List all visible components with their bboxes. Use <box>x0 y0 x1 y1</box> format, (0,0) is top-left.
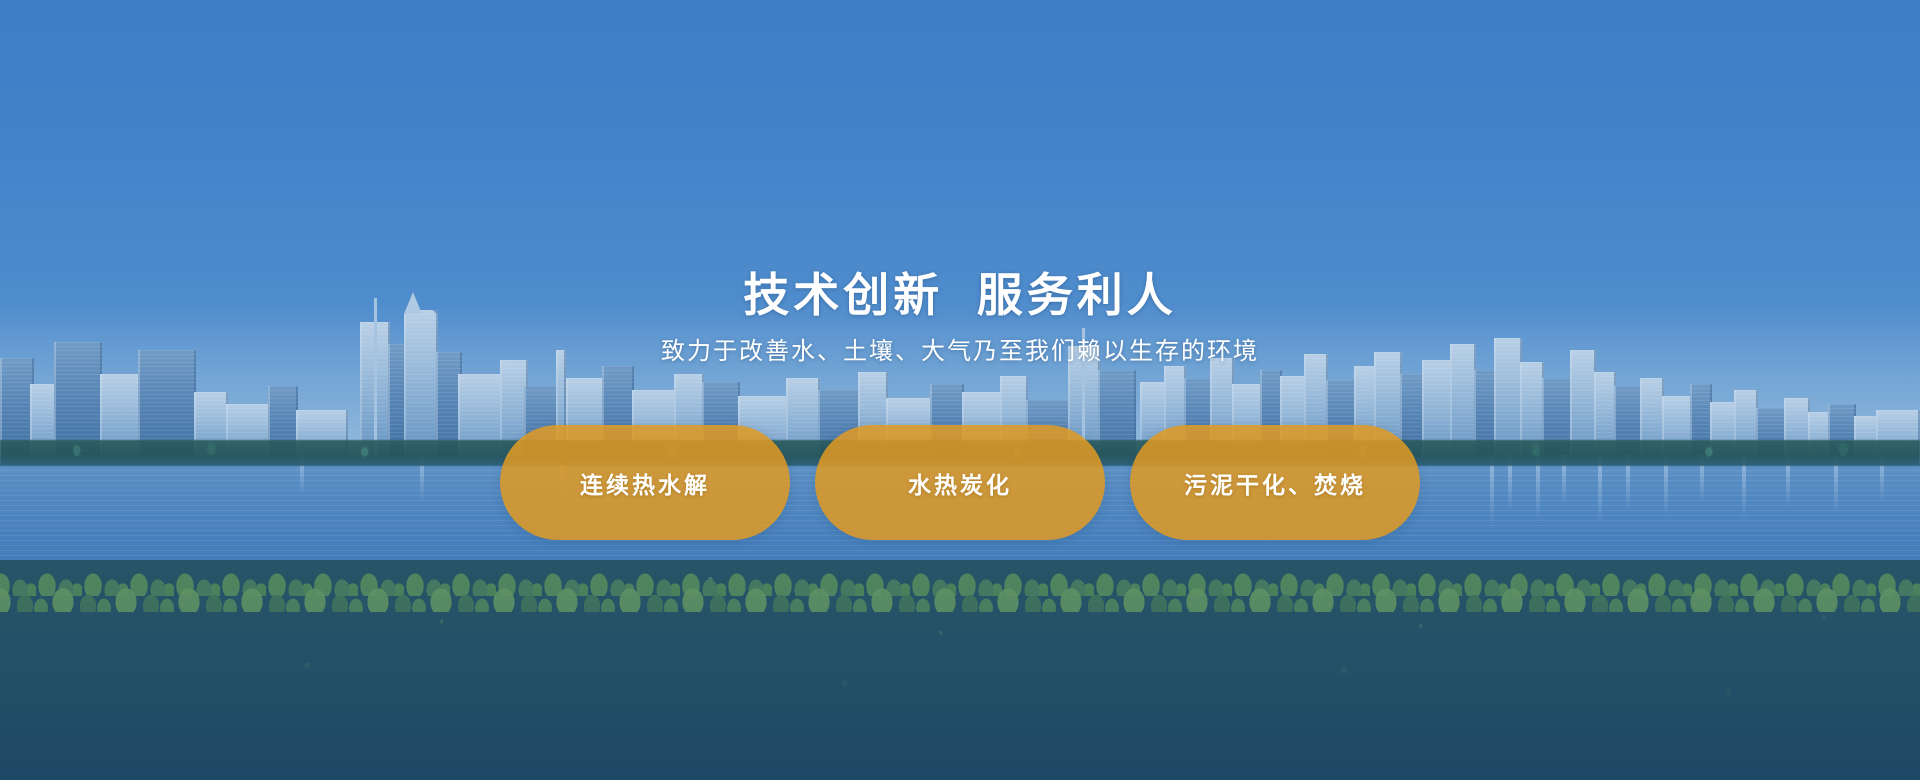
cta-button-continuous-thermal-hydrolysis[interactable]: 连续热水解 <box>500 425 790 540</box>
cta-button-label: 连续热水解 <box>580 466 710 500</box>
cta-button-row: 连续热水解 水热炭化 污泥干化、焚烧 <box>500 425 1420 540</box>
hero-banner: 技术创新 服务利人 致力于改善水、土壤、大气乃至我们赖以生存的环境 连续热水解 … <box>0 0 1920 780</box>
cta-button-hydrothermal-carbonization[interactable]: 水热炭化 <box>815 425 1105 540</box>
cta-button-label: 水热炭化 <box>908 466 1012 500</box>
hero-title: 技术创新 服务利人 <box>743 272 1177 318</box>
hero-content: 技术创新 服务利人 致力于改善水、土壤、大气乃至我们赖以生存的环境 连续热水解 … <box>0 0 1920 780</box>
cta-button-sludge-drying-incineration[interactable]: 污泥干化、焚烧 <box>1130 425 1420 540</box>
hero-subtitle: 致力于改善水、土壤、大气乃至我们赖以生存的环境 <box>661 340 1259 364</box>
cta-button-label: 污泥干化、焚烧 <box>1184 466 1366 500</box>
